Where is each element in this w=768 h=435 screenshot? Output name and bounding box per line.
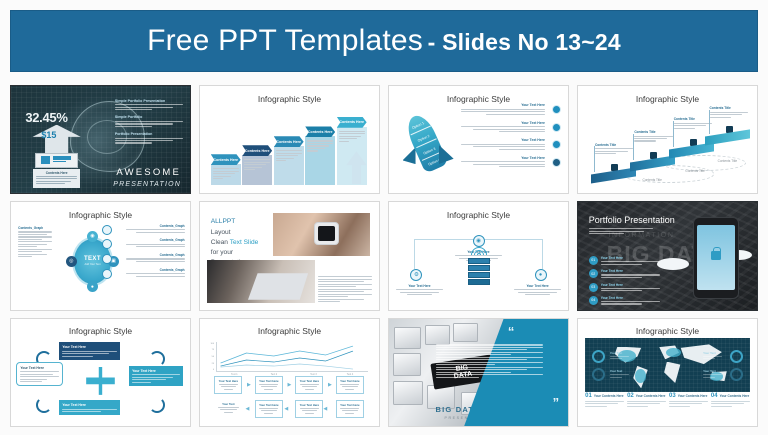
quote-open-icon: “ bbox=[508, 327, 515, 337]
flow-cell: Your Text Here bbox=[336, 376, 364, 395]
chevron-label: Contents Here bbox=[211, 154, 241, 165]
slide-thumbnail-20[interactable]: INFORMATION BIG DATA Portfolio Presentat… bbox=[577, 201, 758, 310]
right-node-icon: ● bbox=[535, 269, 547, 281]
note-item: Simple Portfolio bbox=[115, 115, 183, 127]
slide-thumbnail-13[interactable]: 32.45% $15 Contents Here Simple Portfoli… bbox=[10, 85, 191, 194]
slide-gallery-page: Free PPT Templates - Slides No 13~24 32.… bbox=[0, 0, 768, 435]
chevron-step: Contents Here bbox=[274, 136, 304, 186]
banner-title: Free PPT Templates - Slides No 13~24 bbox=[147, 24, 621, 58]
slide-15-title: Infographic Style bbox=[389, 94, 568, 104]
item-heading: Your Contents Here bbox=[594, 394, 624, 398]
slide-thumbnail-22[interactable]: Infographic Style 10075 5025 0 Text 1Tex… bbox=[199, 318, 380, 427]
slide-14-title: Infographic Style bbox=[200, 94, 379, 104]
item-heading: Your Text Here bbox=[461, 138, 545, 142]
slide-14-canvas: Infographic Style Contents Here Contents… bbox=[200, 86, 379, 193]
cycle-box-top: Your Text Here bbox=[59, 342, 120, 360]
slide-20-canvas: INFORMATION BIG DATA Portfolio Presentat… bbox=[578, 202, 757, 309]
slide-24-title: Infographic Style bbox=[578, 326, 757, 336]
step-heading: Contents Title bbox=[674, 117, 712, 121]
slide-thumbnail-16[interactable]: Infographic Style Contents Title Content… bbox=[577, 85, 758, 194]
flow-cell: Your Text Here bbox=[336, 400, 364, 419]
caption-heading: Contents Here bbox=[36, 171, 77, 175]
slide-13-subtitle: PRESENTATION bbox=[113, 181, 181, 188]
server-icon bbox=[468, 258, 490, 284]
item-heading: Your Contents Here bbox=[678, 394, 708, 398]
slide-21-canvas: Infographic Style Your Text Here Your Te… bbox=[11, 319, 190, 426]
slide-20-title: Portfolio Presentation bbox=[589, 215, 675, 225]
slide-thumbnail-grid: 32.45% $15 Contents Here Simple Portfoli… bbox=[10, 85, 758, 427]
hub-node-icon: ◎ bbox=[66, 256, 77, 267]
item-heading: Your Text Here bbox=[461, 121, 545, 125]
chevron-step: Contents Here bbox=[211, 154, 241, 186]
slide-thumbnail-23[interactable]: BIGDATA BIG DATA PRESENTATION “ ” bbox=[388, 318, 569, 427]
node-caption: Your Text Here bbox=[514, 284, 561, 296]
rocket-item-list: Your Text Here Your Text Here Your Text … bbox=[461, 103, 561, 173]
item-heading: Your Text Here bbox=[601, 283, 661, 287]
item-heading: Contents_Graph bbox=[115, 253, 184, 257]
footer-item: 01Your Contents Here bbox=[585, 393, 624, 421]
slide-22-title: Infographic Style bbox=[200, 326, 379, 336]
slide-13-percent: 32.45% bbox=[25, 110, 67, 125]
slide-19-canvas: Infographic Style ◉ Your Text Here ⚙ You… bbox=[389, 202, 568, 309]
footer-item: 03Your Contents Here bbox=[669, 393, 708, 421]
node-icon bbox=[102, 239, 112, 249]
slide-15-canvas: Infographic Style Option 1 Option 2 Opti… bbox=[389, 86, 568, 193]
node-heading: Your Text Here bbox=[514, 284, 561, 288]
slide-19-title: Infographic Style bbox=[389, 210, 568, 220]
cycle-box-right: Your Text Here bbox=[129, 366, 183, 386]
cell-heading: Your Text Here bbox=[298, 403, 320, 407]
item-heading: Your Text Here bbox=[461, 103, 545, 107]
brand-label: ALLPPT bbox=[211, 218, 236, 225]
bullet-icon bbox=[552, 140, 561, 149]
right-item-list: Contents_Graph Contents_Graph Contents_G… bbox=[102, 224, 184, 282]
chevron-step: Contents Here bbox=[337, 117, 367, 186]
flow-cell: Your Text Here bbox=[255, 400, 283, 419]
quote-close-icon: ” bbox=[553, 398, 560, 408]
laptop-icon bbox=[248, 273, 308, 300]
list-item: 01 Your Text Here bbox=[589, 256, 661, 265]
flow-chart: Your Text Here Your Text Here Your Text … bbox=[214, 376, 370, 419]
chevron-label: Contents Here bbox=[274, 136, 304, 147]
cycle-box-bottom: Your Text Here bbox=[59, 400, 120, 415]
world-map-band: Your Text Your Text Your Text Your Text bbox=[585, 338, 750, 392]
slide-thumbnail-15[interactable]: Infographic Style Option 1 Option 2 Opti… bbox=[388, 85, 569, 194]
chevron-step: Contents Here bbox=[242, 145, 272, 186]
hub-center-sub: Add Your Text bbox=[84, 263, 100, 266]
note-heading: Portfolio Presentation bbox=[115, 132, 183, 136]
platform-step: Contents Title bbox=[669, 146, 714, 155]
node-icon bbox=[102, 269, 112, 279]
node-icon bbox=[102, 225, 112, 235]
laptop-photo bbox=[207, 260, 314, 303]
stat-label: Your Text bbox=[610, 369, 632, 373]
banner-subtitle: - Slides No 13~24 bbox=[428, 29, 621, 55]
note-item: Simple Portfolio Presentation bbox=[115, 99, 183, 111]
item-heading: Your Text Here bbox=[601, 269, 661, 273]
stat-label: Your Text bbox=[703, 369, 725, 373]
slide-20-subtitle bbox=[589, 228, 653, 234]
chevron-label: Contents Here bbox=[242, 145, 272, 156]
list-item: Contents_Graph bbox=[102, 253, 184, 262]
item-number: 04 bbox=[711, 393, 718, 399]
stat-label: Your Text bbox=[703, 351, 725, 355]
slide-thumbnail-14[interactable]: Infographic Style Contents Here Contents… bbox=[199, 85, 380, 194]
shadow-label: Contents Title bbox=[718, 159, 738, 163]
quote-body bbox=[436, 344, 543, 377]
flow-cell: Your Text bbox=[214, 400, 242, 419]
slide-13-title: AWESOME bbox=[116, 167, 181, 178]
cell-heading: Your Text Here bbox=[298, 379, 320, 383]
layout-line-2-highlight: Text Slide bbox=[230, 239, 259, 246]
banner-main-title: Free PPT Templates bbox=[147, 24, 423, 57]
left-caption: Contents_Graph bbox=[18, 226, 52, 257]
cell-heading: Your Text Here bbox=[217, 379, 239, 383]
item-number: 01 bbox=[585, 393, 592, 399]
body-paragraph bbox=[318, 276, 372, 302]
list-item: Your Text Here bbox=[461, 138, 561, 150]
item-number: 03 bbox=[669, 393, 676, 399]
flow-cell: Your Text Here bbox=[295, 400, 323, 419]
top-node-icon: ◉ bbox=[473, 235, 485, 247]
footer-item: 04Your Contents Here bbox=[711, 393, 750, 421]
left-node-icon: ⚙ bbox=[410, 269, 422, 281]
footer-item: 02Your Contents Here bbox=[627, 393, 666, 421]
numbered-item-list: 01 Your Text Here 02 Your Text Here 03 Y… bbox=[589, 256, 661, 309]
item-heading: Your Contents Here bbox=[720, 394, 750, 398]
slide-23-canvas: BIGDATA BIG DATA PRESENTATION “ ” bbox=[389, 319, 568, 426]
chevron-label: Contents Here bbox=[337, 117, 367, 128]
cloud-icon bbox=[657, 258, 689, 270]
slide-17-canvas: Infographic Style Contents_Graph TEXT Ad… bbox=[11, 202, 190, 309]
slide-thumbnail-19[interactable]: Infographic Style ◉ Your Text Here ⚙ You… bbox=[388, 201, 569, 310]
cell-heading: Your Text Here bbox=[258, 403, 280, 407]
bullet-icon bbox=[552, 105, 561, 114]
hub-node-icon: ◉ bbox=[87, 231, 98, 242]
list-item: Contents_Graph bbox=[102, 224, 184, 233]
item-heading: Contents_Graph bbox=[115, 238, 184, 242]
caption-lines bbox=[36, 176, 77, 185]
list-item: Your Text Here bbox=[461, 103, 561, 115]
smartwatch-photo bbox=[273, 213, 370, 256]
list-item: 04 Your Text Here bbox=[589, 296, 661, 305]
slide-16-canvas: Infographic Style Contents Title Content… bbox=[578, 86, 757, 193]
item-number: 01 bbox=[589, 256, 598, 265]
cell-heading: Your Text Here bbox=[339, 379, 361, 383]
slide-13-notes: Simple Portfolio Presentation Simple Por… bbox=[115, 99, 183, 149]
slide-24-canvas: Infographic Style Your Text bbox=[578, 319, 757, 426]
cycle-box-left: Your Text Here bbox=[16, 362, 63, 387]
item-heading: Your Contents Here bbox=[636, 394, 666, 398]
lock-icon bbox=[711, 251, 721, 260]
cell-heading: Your Text Here bbox=[339, 403, 361, 407]
slide-17-title: Infographic Style bbox=[11, 210, 190, 220]
cell-heading: Your Text Here bbox=[258, 379, 280, 383]
item-number: 02 bbox=[589, 269, 598, 278]
item-number: 02 bbox=[627, 393, 634, 399]
chevron-label: Contents Here bbox=[305, 126, 335, 137]
layout-line-2: Clean bbox=[211, 239, 230, 246]
flow-cell: Your Text Here bbox=[214, 376, 242, 395]
platform-step: Contents Title bbox=[591, 171, 636, 180]
shadow-label: Contents Title bbox=[642, 178, 662, 182]
rocket-icon: Option 1 Option 2 Option 3 Option 4 bbox=[402, 114, 452, 178]
item-number: 04 bbox=[589, 296, 598, 305]
list-item: Contents_Graph bbox=[102, 268, 184, 277]
slide-13-caption: Contents Here bbox=[33, 169, 80, 188]
wifi-icon bbox=[471, 247, 487, 257]
chevron-step: Contents Here bbox=[305, 126, 335, 185]
list-item: 02 Your Text Here bbox=[589, 269, 661, 278]
item-heading: Your Text Here bbox=[601, 256, 661, 260]
item-heading: Your Text Here bbox=[461, 156, 545, 160]
box-heading: Your Text Here bbox=[20, 366, 59, 370]
node-heading: Your Text Here bbox=[396, 284, 443, 288]
step-heading: Contents Title bbox=[634, 130, 672, 134]
slide-thumbnail-18[interactable]: ALLPPT Layout Clean Text Slide for your … bbox=[199, 201, 380, 310]
cell-heading: Your Text bbox=[216, 402, 240, 406]
node-caption: Your Text Here bbox=[396, 284, 443, 296]
flow-cell: Your Text Here bbox=[295, 376, 323, 395]
step-heading: Contents Title bbox=[710, 106, 748, 110]
slide-thumbnail-17[interactable]: Infographic Style Contents_Graph TEXT Ad… bbox=[10, 201, 191, 310]
hub-center-label: TEXT bbox=[84, 256, 101, 262]
platform-step: Contents Title bbox=[630, 159, 675, 168]
slide-13-price: $15 bbox=[41, 130, 56, 140]
step-heading: Contents Title bbox=[595, 143, 633, 147]
item-heading: Contents_Graph bbox=[115, 268, 184, 272]
slide-thumbnail-21[interactable]: Infographic Style Your Text Here Your Te… bbox=[10, 318, 191, 427]
slide-16-title: Infographic Style bbox=[578, 94, 757, 104]
four-way-arrow-icon bbox=[86, 367, 115, 395]
layout-line-1: Layout bbox=[211, 229, 231, 236]
item-heading: Contents_Graph bbox=[115, 224, 184, 228]
list-item: Your Text Here bbox=[461, 156, 561, 168]
list-item: Contents_Graph bbox=[102, 238, 184, 247]
note-heading: Simple Portfolio bbox=[115, 115, 183, 119]
box-heading: Your Text Here bbox=[62, 403, 117, 407]
hub-node-icon: ● bbox=[87, 281, 98, 292]
list-item: Your Text Here bbox=[461, 121, 561, 133]
box-heading: Your Text Here bbox=[62, 345, 117, 349]
slide-22-canvas: Infographic Style 10075 5025 0 Text 1Tex… bbox=[200, 319, 379, 426]
page-banner: Free PPT Templates - Slides No 13~24 bbox=[10, 10, 758, 72]
shadow-label: Contents Title bbox=[685, 169, 705, 173]
note-heading: Simple Portfolio Presentation bbox=[115, 99, 183, 103]
line-chart: 10075 5025 0 Text 1Text 2 Text 3Text 4 bbox=[216, 342, 368, 372]
bullet-icon bbox=[552, 158, 561, 167]
platform-step: Contents Title bbox=[705, 133, 750, 142]
numbered-footer: 01Your Contents Here 02Your Contents Her… bbox=[585, 393, 750, 421]
watch-icon bbox=[314, 222, 339, 244]
chevron-steps-group: Contents Here Contents Here Contents Her… bbox=[211, 111, 369, 186]
box-heading: Your Text Here bbox=[132, 369, 180, 373]
bullet-icon bbox=[552, 123, 561, 132]
slide-21-title: Infographic Style bbox=[11, 326, 190, 336]
chart-lines bbox=[216, 342, 368, 372]
item-heading: Your Text Here bbox=[601, 296, 661, 300]
node-icon bbox=[102, 254, 112, 264]
monitor-icon bbox=[35, 153, 78, 168]
list-item: 03 Your Text Here bbox=[589, 283, 661, 292]
stat-label: Your Text bbox=[610, 351, 632, 355]
layout-line-3: for your bbox=[211, 249, 233, 256]
phone-icon bbox=[693, 217, 740, 299]
item-number: 03 bbox=[589, 283, 598, 292]
flow-cell: Your Text Here bbox=[255, 376, 283, 395]
slide-thumbnail-24[interactable]: Infographic Style Your Text bbox=[577, 318, 758, 427]
caption-heading: Contents_Graph bbox=[18, 226, 52, 230]
slide-13-canvas: 32.45% $15 Contents Here Simple Portfoli… bbox=[11, 86, 190, 193]
slide-18-canvas: ALLPPT Layout Clean Text Slide for your … bbox=[200, 202, 379, 309]
note-item: Portfolio Presentation bbox=[115, 132, 183, 144]
